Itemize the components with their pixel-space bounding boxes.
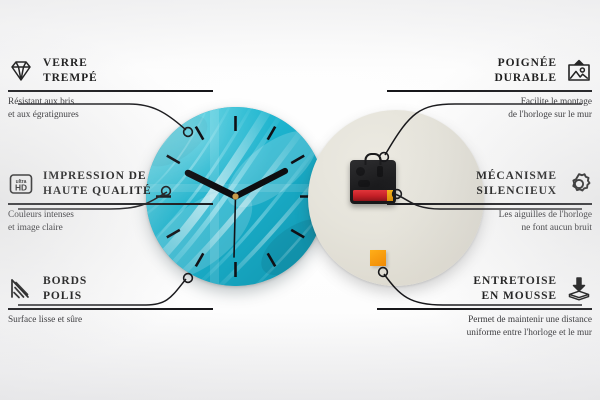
minute-hand xyxy=(236,171,286,197)
callout-title: POIGNÉE DURABLE xyxy=(494,56,557,86)
second-hand xyxy=(234,197,236,258)
callout-impression-haute-qualite[interactable]: ultra HD IMPRESSION DE HAUTE QUALITÉ Cou… xyxy=(8,169,213,234)
svg-text:HD: HD xyxy=(15,183,27,193)
callout-entretoise-en-mousse[interactable]: ENTRETOISE EN MOUSSE Permet de maintenir… xyxy=(377,274,592,339)
callout-header: POIGNÉE DURABLE xyxy=(387,56,592,86)
product-infographic: VERRE TREMPÉ Résistant aux bris et aux é… xyxy=(0,0,600,400)
callout-bords-polis[interactable]: BORDS POLIS Surface lisse et sûre xyxy=(8,274,213,327)
callout-header: BORDS POLIS xyxy=(8,274,213,304)
callout-header: ENTRETOISE EN MOUSSE xyxy=(377,274,592,304)
callout-title: ENTRETOISE EN MOUSSE xyxy=(473,274,557,304)
callout-title: IMPRESSION DE HAUTE QUALITÉ xyxy=(43,169,152,199)
callout-subtitle: Résistant aux bris et aux égratignures xyxy=(8,96,213,121)
callout-subtitle: Couleurs intenses et image claire xyxy=(8,209,213,234)
callout-divider xyxy=(387,90,592,92)
movement-detail xyxy=(358,180,370,187)
callout-subtitle: Permet de maintenir une distance uniform… xyxy=(377,314,592,339)
clock-center-cap xyxy=(232,193,238,199)
foam-spacer xyxy=(370,250,386,266)
diamond-icon xyxy=(8,58,34,84)
callout-divider xyxy=(8,90,213,92)
callout-divider xyxy=(8,203,213,205)
callout-header: MÉCANISME SILENCIEUX xyxy=(387,169,592,199)
polished-edge-icon xyxy=(8,276,34,302)
gear-icon xyxy=(566,171,592,197)
movement-detail xyxy=(377,166,383,177)
callout-mecanisme-silencieux[interactable]: MÉCANISME SILENCIEUX Les aiguilles de l'… xyxy=(387,169,592,234)
hanging-loop xyxy=(365,153,382,165)
ultra-hd-icon: ultra HD xyxy=(8,171,34,197)
callout-poignee-durable[interactable]: POIGNÉE DURABLE Facilite le montage de l… xyxy=(387,56,592,121)
callout-header: ultra HD IMPRESSION DE HAUTE QUALITÉ xyxy=(8,169,213,199)
foam-spacer-arrow-icon xyxy=(566,276,592,302)
movement-detail xyxy=(356,167,365,176)
callout-verre-trempe[interactable]: VERRE TREMPÉ Résistant aux bris et aux é… xyxy=(8,56,213,121)
callout-divider xyxy=(377,308,592,310)
callout-divider xyxy=(8,308,213,310)
callout-header: VERRE TREMPÉ xyxy=(8,56,213,86)
callout-subtitle: Les aiguilles de l'horloge ne font aucun… xyxy=(387,209,592,234)
callout-subtitle: Surface lisse et sûre xyxy=(8,314,213,327)
callout-title: VERRE TREMPÉ xyxy=(43,56,98,86)
callout-title: MÉCANISME SILENCIEUX xyxy=(476,169,557,199)
callout-divider xyxy=(387,203,592,205)
hanging-picture-icon xyxy=(566,58,592,84)
callout-subtitle: Facilite le montage de l'horloge sur le … xyxy=(387,96,592,121)
callout-title: BORDS POLIS xyxy=(43,274,87,304)
